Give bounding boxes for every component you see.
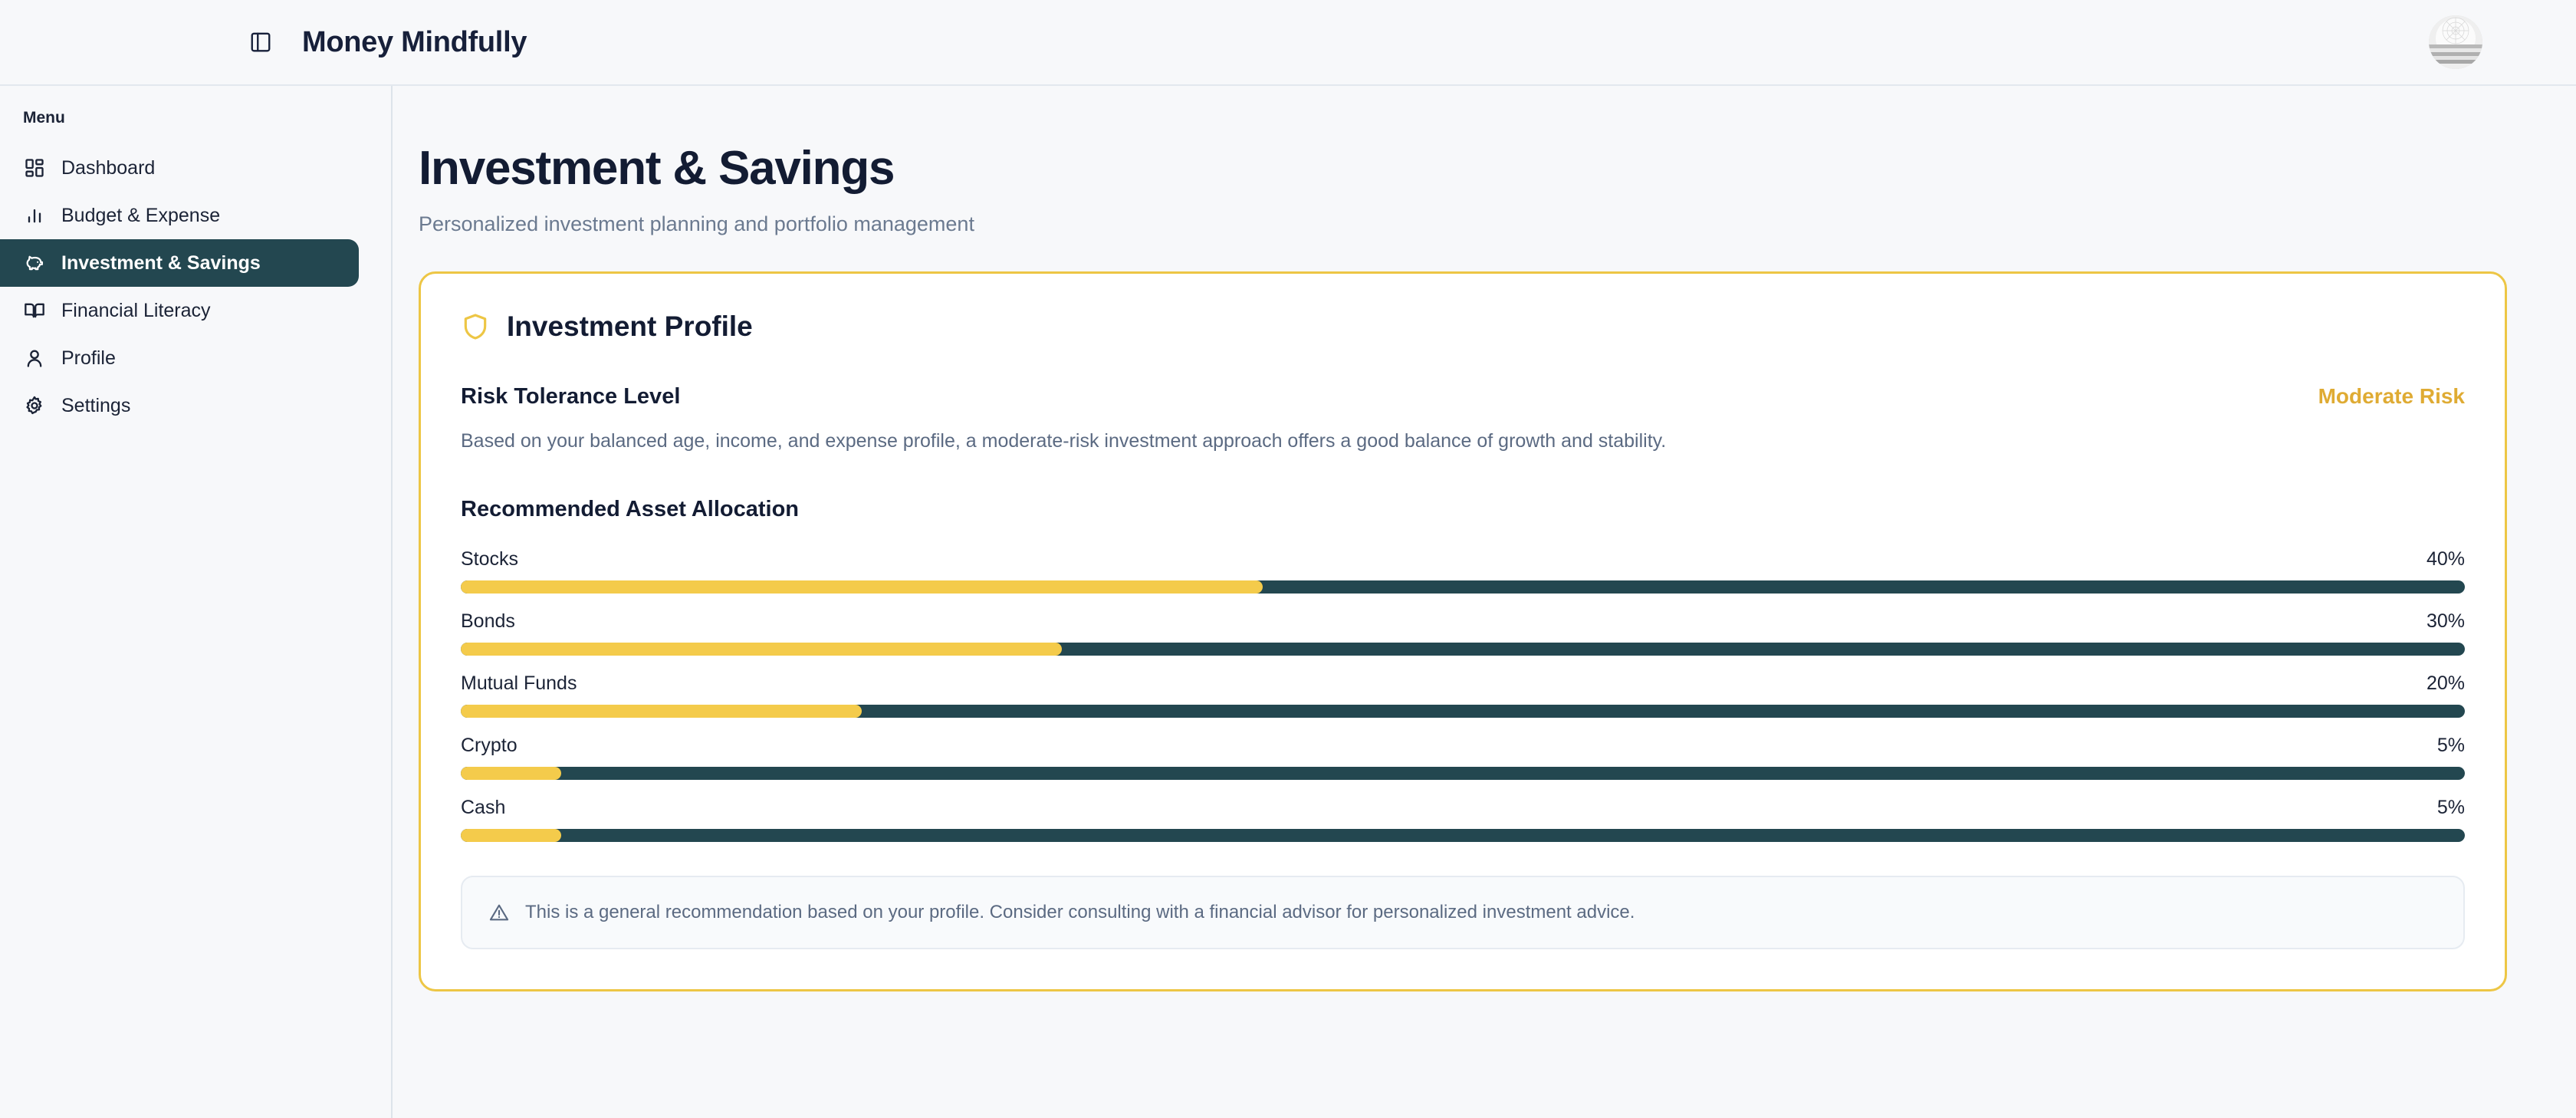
allocation-asset-name: Cash <box>461 797 505 819</box>
user-icon <box>23 347 46 370</box>
page-subtitle: Personalized investment planning and por… <box>419 212 2507 236</box>
warning-triangle-icon <box>488 902 510 923</box>
bar-chart-icon <box>23 204 46 227</box>
sidebar-item-settings[interactable]: Settings <box>0 382 359 429</box>
allocation-bar-track <box>461 643 2465 656</box>
allocation-row: Crypto5% <box>461 735 2465 780</box>
app-title: Money Mindfully <box>302 26 527 59</box>
risk-level-badge: Moderate Risk <box>2318 384 2465 409</box>
allocation-bar-fill <box>461 643 1062 656</box>
allocation-percent-value: 40% <box>2426 548 2465 571</box>
sidebar-item-investment-savings[interactable]: Investment & Savings <box>0 239 359 287</box>
allocation-row: Mutual Funds20% <box>461 672 2465 718</box>
allocation-row-header: Cash5% <box>461 797 2465 819</box>
page-title: Investment & Savings <box>419 141 2507 196</box>
top-bar: Money Mindfully <box>0 0 2576 86</box>
allocation-asset-name: Crypto <box>461 735 517 757</box>
investment-profile-card: Investment Profile Risk Tolerance Level … <box>419 271 2507 991</box>
allocation-row: Bonds30% <box>461 610 2465 656</box>
risk-tolerance-row: Risk Tolerance Level Moderate Risk <box>461 384 2465 409</box>
user-avatar-icon <box>2429 15 2482 69</box>
allocation-asset-name: Stocks <box>461 548 518 571</box>
gear-icon <box>23 394 46 417</box>
card-title: Investment Profile <box>507 311 753 343</box>
allocation-percent-value: 20% <box>2426 672 2465 695</box>
risk-description: Based on your balanced age, income, and … <box>461 430 2465 452</box>
allocation-bar-fill <box>461 580 1263 594</box>
card-header: Investment Profile <box>461 311 2465 343</box>
allocation-percent-value: 5% <box>2437 735 2465 757</box>
sidebar-item-label: Settings <box>61 395 130 417</box>
allocation-percent-value: 30% <box>2426 610 2465 633</box>
allocation-percent-value: 5% <box>2437 797 2465 819</box>
allocation-bar-fill <box>461 705 862 718</box>
sidebar-item-label: Investment & Savings <box>61 252 261 275</box>
allocation-bar-fill <box>461 767 561 780</box>
main-content: Investment & Savings Personalized invest… <box>394 86 2576 1118</box>
avatar[interactable] <box>2429 15 2482 69</box>
sidebar-item-profile[interactable]: Profile <box>0 334 359 382</box>
allocation-row: Cash5% <box>461 797 2465 842</box>
disclaimer-note: This is a general recommendation based o… <box>461 876 2465 949</box>
layout-grid-icon <box>23 156 46 179</box>
sidebar-item-financial-literacy[interactable]: Financial Literacy <box>0 287 359 334</box>
allocation-row-header: Crypto5% <box>461 735 2465 757</box>
allocation-section-title: Recommended Asset Allocation <box>461 497 2465 522</box>
piggy-bank-icon <box>23 252 46 275</box>
shield-icon <box>461 312 490 341</box>
book-open-icon <box>23 299 46 322</box>
sidebar-toggle-button[interactable] <box>244 25 278 59</box>
sidebar-item-dashboard[interactable]: Dashboard <box>0 144 359 192</box>
risk-tolerance-title: Risk Tolerance Level <box>461 384 680 409</box>
disclaimer-text: This is a general recommendation based o… <box>525 902 1635 923</box>
allocation-bar-track <box>461 767 2465 780</box>
allocation-bar-track <box>461 705 2465 718</box>
sidebar: Menu Dashboard Budget & Expense Investme… <box>0 86 393 1118</box>
sidebar-item-label: Financial Literacy <box>61 300 211 322</box>
allocation-bar-fill <box>461 829 561 842</box>
sidebar-item-label: Profile <box>61 347 116 370</box>
sidebar-item-label: Dashboard <box>61 157 155 179</box>
sidebar-toggle-icon <box>249 31 272 54</box>
allocation-asset-name: Bonds <box>461 610 515 633</box>
asset-allocation-list: Stocks40%Bonds30%Mutual Funds20%Crypto5%… <box>461 548 2465 842</box>
allocation-row-header: Stocks40% <box>461 548 2465 571</box>
sidebar-item-budget-expense[interactable]: Budget & Expense <box>0 192 359 239</box>
allocation-row-header: Mutual Funds20% <box>461 672 2465 695</box>
allocation-bar-track <box>461 829 2465 842</box>
allocation-row: Stocks40% <box>461 548 2465 594</box>
sidebar-item-label: Budget & Expense <box>61 205 220 227</box>
allocation-row-header: Bonds30% <box>461 610 2465 633</box>
allocation-bar-track <box>461 580 2465 594</box>
allocation-asset-name: Mutual Funds <box>461 672 577 695</box>
sidebar-section-label: Menu <box>23 109 391 127</box>
